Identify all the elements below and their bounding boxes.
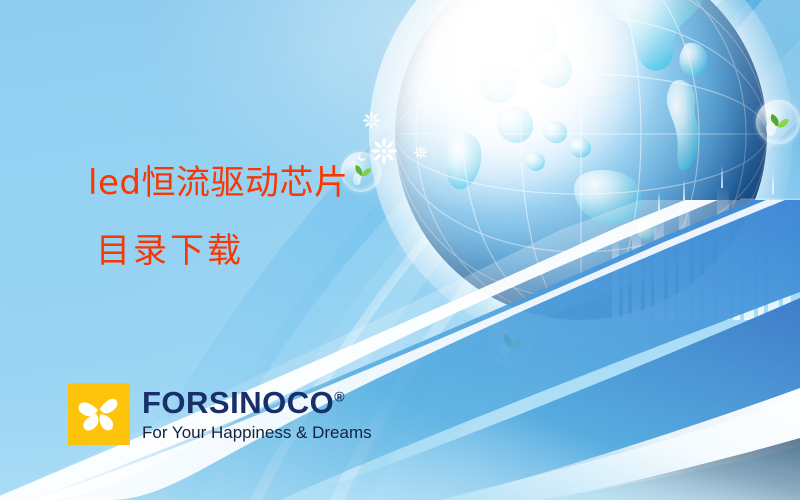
headline-line-1: led恒流驱动芯片 xyxy=(88,166,348,200)
green-leaf-right-icon xyxy=(756,100,800,144)
white-flower-small-icon xyxy=(363,112,380,129)
brand-name: FORSINOCO® xyxy=(142,387,372,418)
brand-logo-text: FORSINOCO® For Your Happiness & Dreams xyxy=(142,387,372,441)
headline-line-2: 目录下载 xyxy=(96,234,244,268)
registered-trademark-symbol: ® xyxy=(334,389,345,405)
brand-tagline: For Your Happiness & Dreams xyxy=(142,424,372,441)
brand-name-text: FORSINOCO xyxy=(142,385,334,420)
bubble-leaf-right-edge xyxy=(756,100,800,144)
brand-logo[interactable]: FORSINOCO® For Your Happiness & Dreams xyxy=(68,383,372,445)
white-flower-tiny-icon xyxy=(414,146,427,159)
promo-banner: led恒流驱动芯片 目录下载 FORSINOCO® For Your Happi… xyxy=(0,0,800,500)
pinwheel-flower-mark-icon xyxy=(68,383,130,445)
